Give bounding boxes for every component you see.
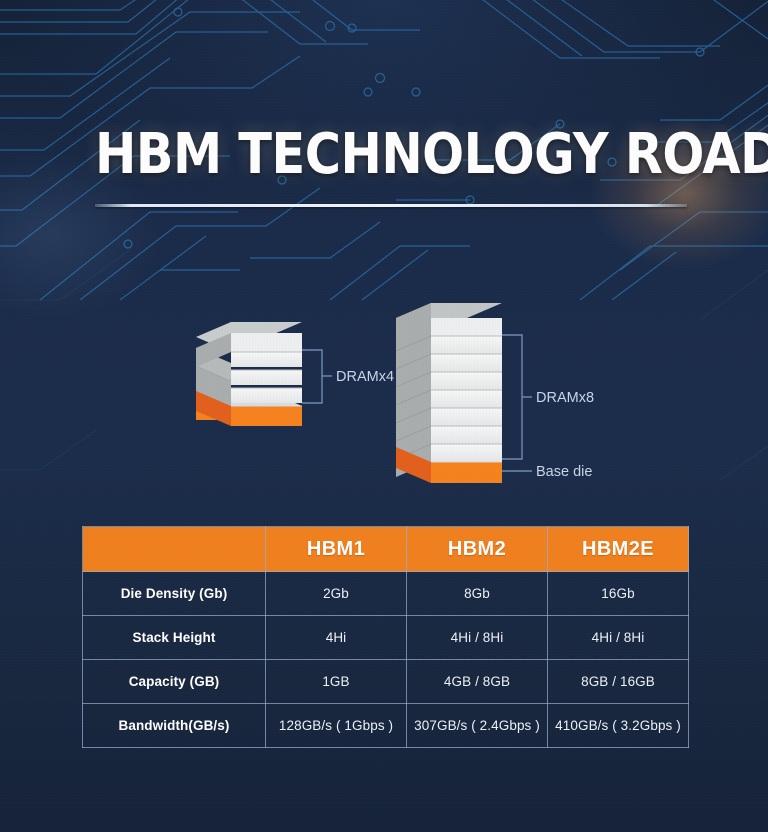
row-label-bandwidth: Bandwidth(GB/s) <box>83 704 266 748</box>
cell-die-density-hbm2e: 16Gb <box>548 572 689 616</box>
column-header-hbm2: HBM2 <box>407 527 548 572</box>
large-stack-bracket <box>502 335 532 459</box>
small-stack-bracket <box>302 350 332 403</box>
cell-bandwidth-hbm1: 128GB/s ( 1Gbps ) <box>266 704 407 748</box>
small-stack-bracket-label: DRAMx4 <box>336 369 394 385</box>
row-label-stack-height: Stack Height <box>83 616 266 660</box>
cell-bandwidth-hbm2: 307GB/s ( 2.4Gbps ) <box>407 704 548 748</box>
column-header-hbm2e: HBM2E <box>548 527 689 572</box>
row-label-capacity: Capacity (GB) <box>83 660 266 704</box>
row-label-die-density: Die Density (Gb) <box>83 572 266 616</box>
table-header-row: HBM1 HBM2 HBM2E <box>83 527 689 572</box>
large-die-stack <box>396 303 502 483</box>
cell-die-density-hbm1: 2Gb <box>266 572 407 616</box>
large-stack-bracket-label: DRAMx8 <box>536 390 594 406</box>
table-corner-cell <box>83 527 266 572</box>
spec-table: HBM1 HBM2 HBM2E Die Density (Gb) 2Gb 8Gb… <box>82 526 689 748</box>
base-die-label: Base die <box>536 464 592 480</box>
cell-stack-height-hbm2: 4Hi / 8Hi <box>407 616 548 660</box>
column-header-hbm1: HBM1 <box>266 527 407 572</box>
cell-die-density-hbm2: 8Gb <box>407 572 548 616</box>
title-underline <box>95 204 687 207</box>
cell-stack-height-hbm2e: 4Hi / 8Hi <box>548 616 689 660</box>
infographic-canvas: HBM TECHNOLOGY ROADMAP <box>0 0 768 832</box>
cell-capacity-hbm1: 1GB <box>266 660 407 704</box>
small-die-stack <box>196 322 302 426</box>
cell-bandwidth-hbm2e: 410GB/s ( 3.2Gbps ) <box>548 704 689 748</box>
cell-capacity-hbm2: 4GB / 8GB <box>407 660 548 704</box>
table-row: Die Density (Gb) 2Gb 8Gb 16Gb <box>83 572 689 616</box>
cell-stack-height-hbm1: 4Hi <box>266 616 407 660</box>
page-title: HBM TECHNOLOGY ROADMAP <box>95 125 683 185</box>
die-stack-diagram: DRAMx4 <box>0 255 768 500</box>
cell-capacity-hbm2e: 8GB / 16GB <box>548 660 689 704</box>
table-row: Bandwidth(GB/s) 128GB/s ( 1Gbps ) 307GB/… <box>83 704 689 748</box>
table-row: Capacity (GB) 1GB 4GB / 8GB 8GB / 16GB <box>83 660 689 704</box>
table-row: Stack Height 4Hi 4Hi / 8Hi 4Hi / 8Hi <box>83 616 689 660</box>
